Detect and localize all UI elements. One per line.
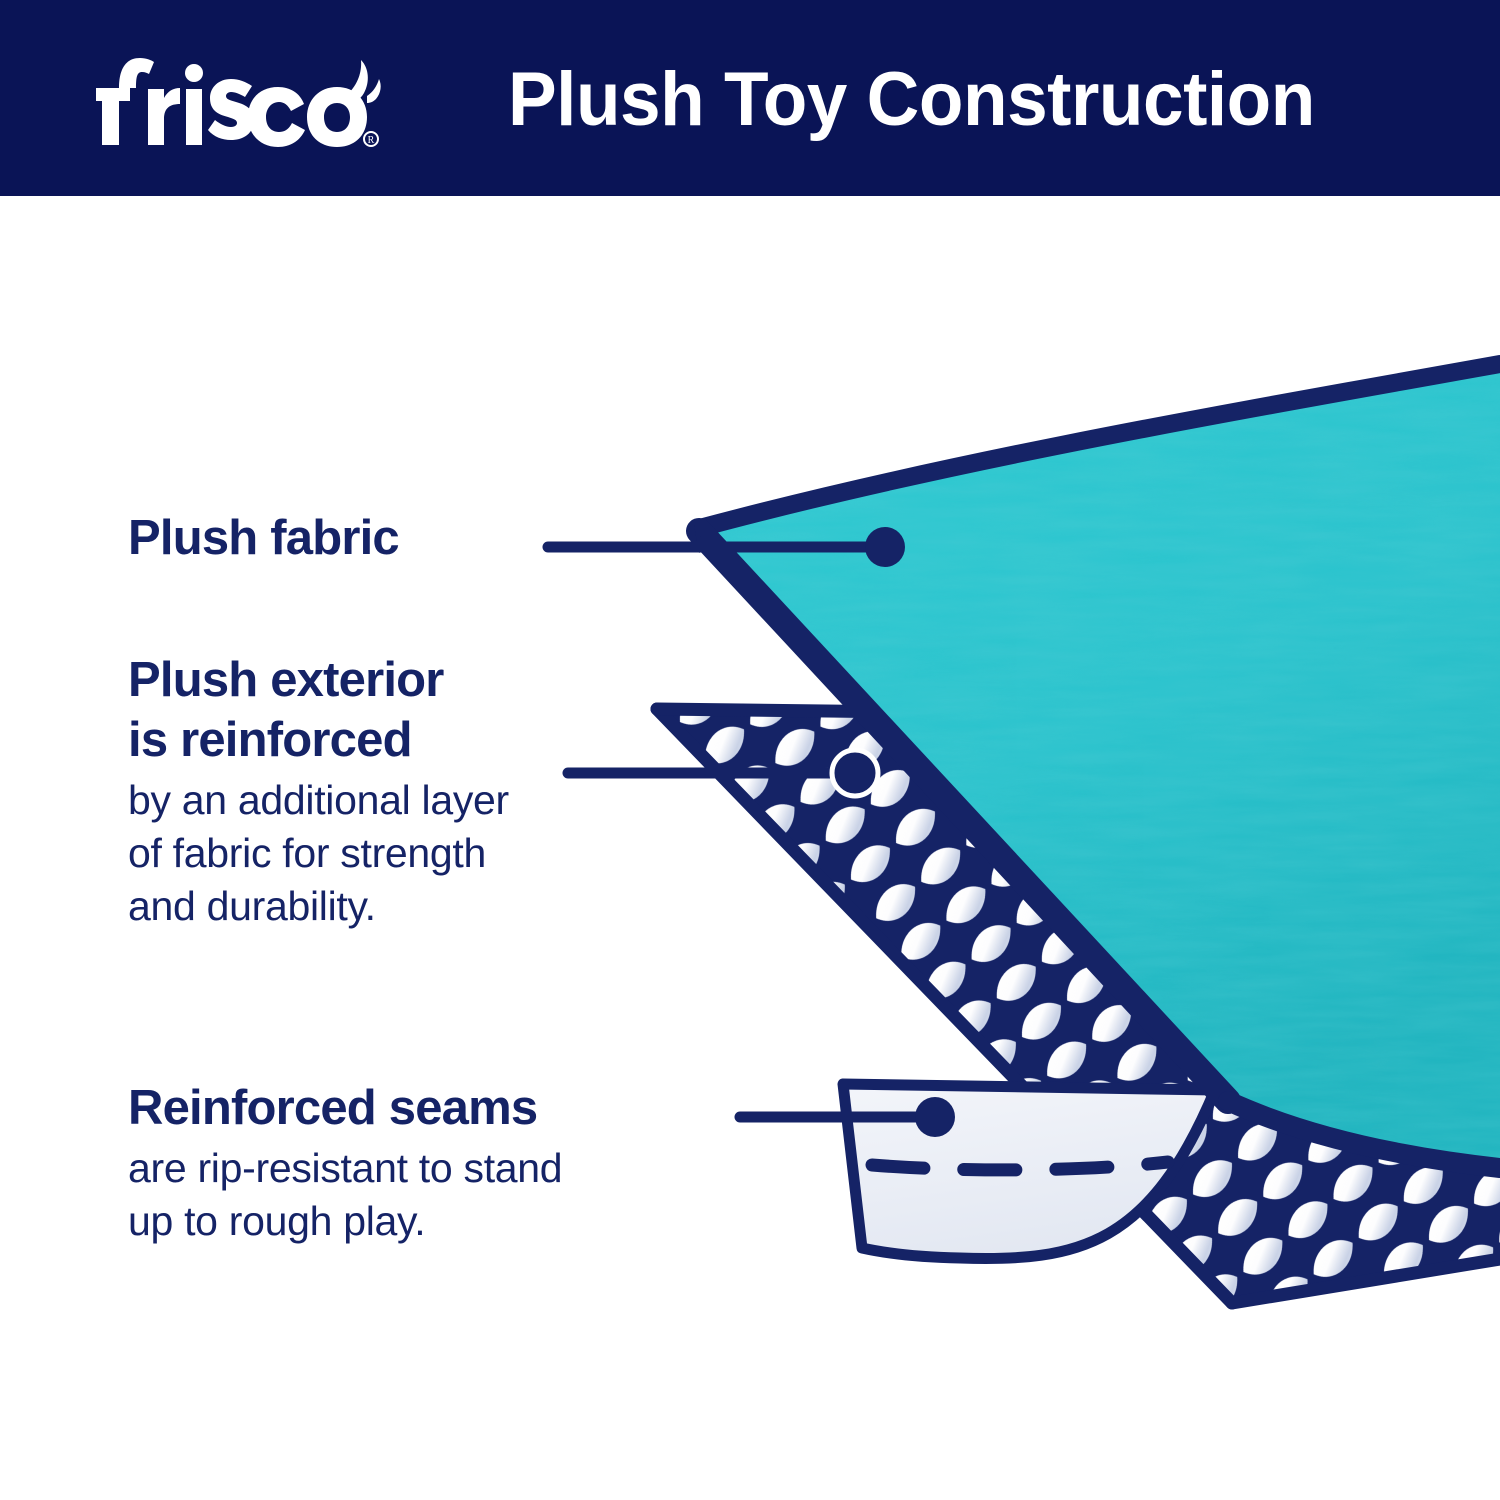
plush-fabric-surface	[690, 360, 1500, 1180]
callout-body: by an additional layer of fabric for str…	[128, 774, 728, 933]
leader-plush-fabric	[548, 527, 905, 567]
header-bar: R Plush Toy Construction	[0, 0, 1500, 196]
page-title: Plush Toy Construction	[508, 50, 1315, 150]
dashed-stitch-line	[872, 1162, 1168, 1170]
mesh-reinforcement-layer	[600, 660, 1500, 1360]
frisco-logo-icon: R	[86, 44, 386, 148]
svg-text:R: R	[368, 135, 375, 146]
infographic-page: R Plush Toy Construction	[0, 0, 1500, 1500]
seam-flap	[843, 1084, 1215, 1258]
callout-headline: Plush exterior is reinforced	[128, 650, 728, 770]
callout-headline: Plush fabric	[128, 508, 558, 568]
callout-plush-exterior: Plush exterior is reinforced by an addit…	[128, 650, 728, 933]
callout-body: are rip-resistant to stand up to rough p…	[128, 1142, 788, 1248]
callout-plush-fabric: Plush fabric	[128, 508, 558, 568]
callout-headline: Reinforced seams	[128, 1078, 788, 1138]
callout-reinforced-seams: Reinforced seams are rip-resistant to st…	[128, 1078, 788, 1248]
